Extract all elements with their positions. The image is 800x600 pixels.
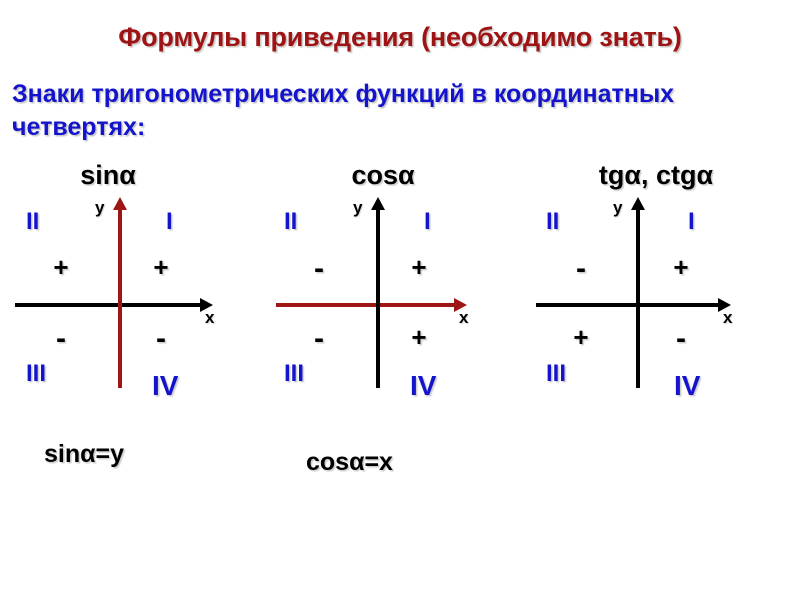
quadrant-label-4: IV bbox=[674, 370, 700, 402]
quadrant-label-2: II bbox=[546, 208, 559, 236]
y-axis-line bbox=[376, 208, 380, 388]
x-axis-line bbox=[15, 303, 200, 307]
quadrant-label-4: IV bbox=[410, 370, 436, 402]
sign-quadrant-3: - bbox=[306, 322, 332, 356]
sign-quadrant-3: - bbox=[48, 322, 74, 356]
diagram-sin-title: sinα bbox=[0, 160, 238, 191]
quadrant-label-3: III bbox=[284, 360, 304, 388]
quadrant-label-3: III bbox=[26, 360, 46, 388]
diagram-sin: sinα x y I II III IV + + - - bbox=[0, 160, 260, 410]
sign-quadrant-1: + bbox=[668, 252, 694, 283]
y-axis-arrow-icon bbox=[371, 197, 385, 210]
quadrant-label-1: I bbox=[688, 208, 695, 236]
y-axis-line bbox=[118, 208, 122, 388]
diagram-tg-ctg: tgα, ctgα x y I II III IV + - + - bbox=[516, 160, 776, 410]
x-axis-line bbox=[276, 303, 454, 307]
diagram-cos: cosα x y I II III IV + - - + bbox=[258, 160, 518, 410]
y-axis-label: y bbox=[95, 198, 104, 218]
sign-quadrant-1: + bbox=[406, 252, 432, 283]
sign-quadrant-3: + bbox=[568, 322, 594, 353]
subtitle-text: Знаки тригонометрических функций в коорд… bbox=[12, 78, 712, 145]
sign-quadrant-4: - bbox=[148, 322, 174, 356]
quadrant-label-1: I bbox=[424, 208, 431, 236]
page-title: Формулы приведения (необходимо знать) bbox=[0, 22, 800, 53]
quadrant-label-2: II bbox=[284, 208, 297, 236]
quadrant-label-4: IV bbox=[152, 370, 178, 402]
x-axis-label: x bbox=[459, 308, 468, 328]
quadrant-label-1: I bbox=[166, 208, 173, 236]
x-axis-label: x bbox=[723, 308, 732, 328]
x-axis-line bbox=[536, 303, 718, 307]
quadrant-label-2: II bbox=[26, 208, 39, 236]
y-axis-arrow-icon bbox=[631, 197, 645, 210]
diagram-tg-ctg-title: tgα, ctgα bbox=[526, 160, 786, 191]
sign-quadrant-1: + bbox=[148, 252, 174, 283]
formula-cos-equals-x: cosα=x bbox=[306, 448, 393, 477]
formula-sin-equals-y: sinα=y bbox=[44, 440, 124, 469]
quadrant-label-3: III bbox=[546, 360, 566, 388]
sign-quadrant-2: + bbox=[48, 252, 74, 283]
y-axis-line bbox=[636, 208, 640, 388]
x-axis-label: x bbox=[205, 308, 214, 328]
y-axis-arrow-icon bbox=[113, 197, 127, 210]
y-axis-label: y bbox=[613, 198, 622, 218]
y-axis-label: y bbox=[353, 198, 362, 218]
sign-quadrant-4: + bbox=[406, 322, 432, 353]
sign-quadrant-2: - bbox=[568, 252, 594, 286]
sign-quadrant-4: - bbox=[668, 322, 694, 356]
diagram-cos-title: cosα bbox=[253, 160, 513, 191]
sign-quadrant-2: - bbox=[306, 252, 332, 286]
